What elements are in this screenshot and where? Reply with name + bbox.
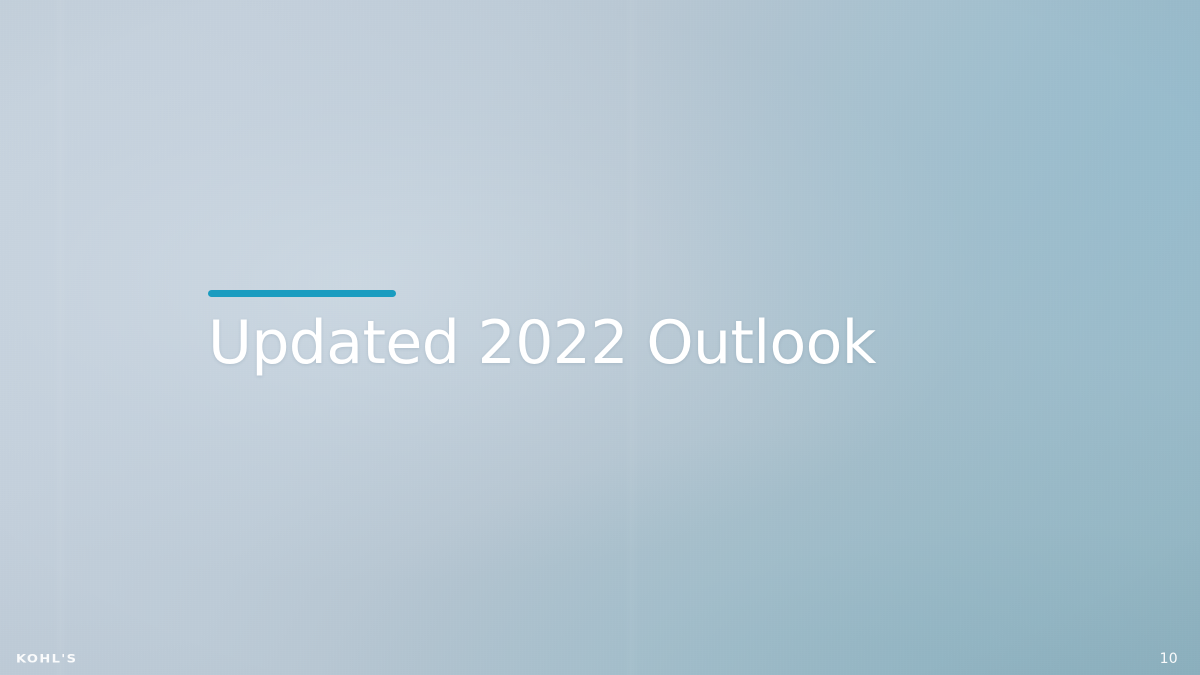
slide-title: Updated 2022 Outlook [208, 313, 876, 373]
page-number: 10 [1160, 652, 1178, 666]
title-block: Updated 2022 Outlook [208, 290, 876, 373]
title-accent-bar [208, 290, 396, 297]
presentation-slide: Updated 2022 Outlook KOHL'S 10 [0, 0, 1200, 675]
kohls-logo: KOHL'S [16, 654, 77, 665]
